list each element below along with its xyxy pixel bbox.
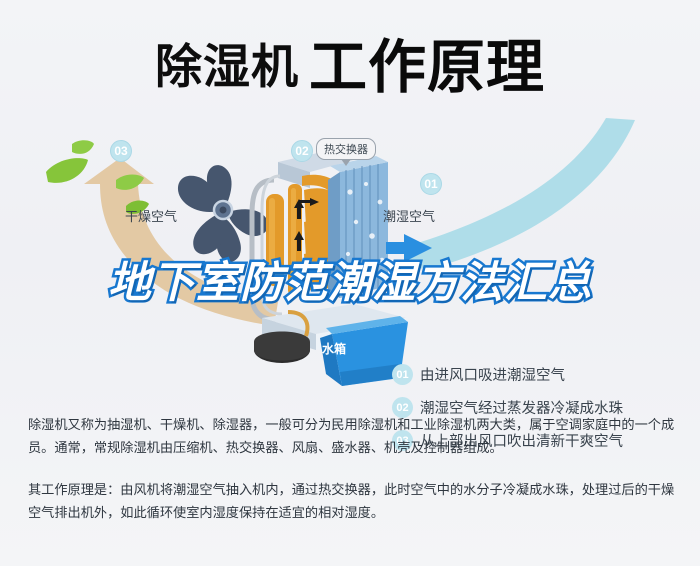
diagram-badge-02: 02 [291,140,313,162]
legend-number-01: 01 [392,364,413,385]
page-title: 除湿机 工作原理 [0,26,700,108]
diagram-badge-03: 03 [110,140,132,162]
page-title-part2: 工作原理 [309,38,545,96]
body-paragraph-1: 除湿机又称为抽湿机、干燥机、除湿器，一般可分为民用除湿机和工业除湿机两大类，属于… [28,414,676,460]
moist-air-label: 潮湿空气 [383,206,435,225]
dehumidifier-diagram: 热交换器 03 02 01 干燥空气 潮湿空气 水箱 01 由进风口吸进潮湿空气… [0,118,700,398]
legend-item: 01 由进风口吸进潮湿空气 [392,358,692,391]
dry-air-label: 干燥空气 [125,206,177,225]
article-body: 除湿机又称为抽湿机、干燥机、除湿器，一般可分为民用除湿机和工业除湿机两大类，属于… [28,414,676,544]
water-tank-label: 水箱 [322,340,346,357]
body-paragraph-2: 其工作原理是：由风机将潮湿空气抽入机内，通过热交换器，此时空气中的水分子冷凝成水… [28,479,676,525]
legend-text-01: 由进风口吸进潮湿空气 [420,364,565,385]
poster-root: 除湿机 工作原理 [0,0,700,566]
page-title-part1: 除湿机 [155,44,299,91]
diagram-badge-01: 01 [420,173,442,195]
heat-exchanger-callout: 热交换器 [316,138,376,160]
heat-exchanger-callout-label: 热交换器 [324,143,368,156]
leaf-icon [36,136,166,246]
